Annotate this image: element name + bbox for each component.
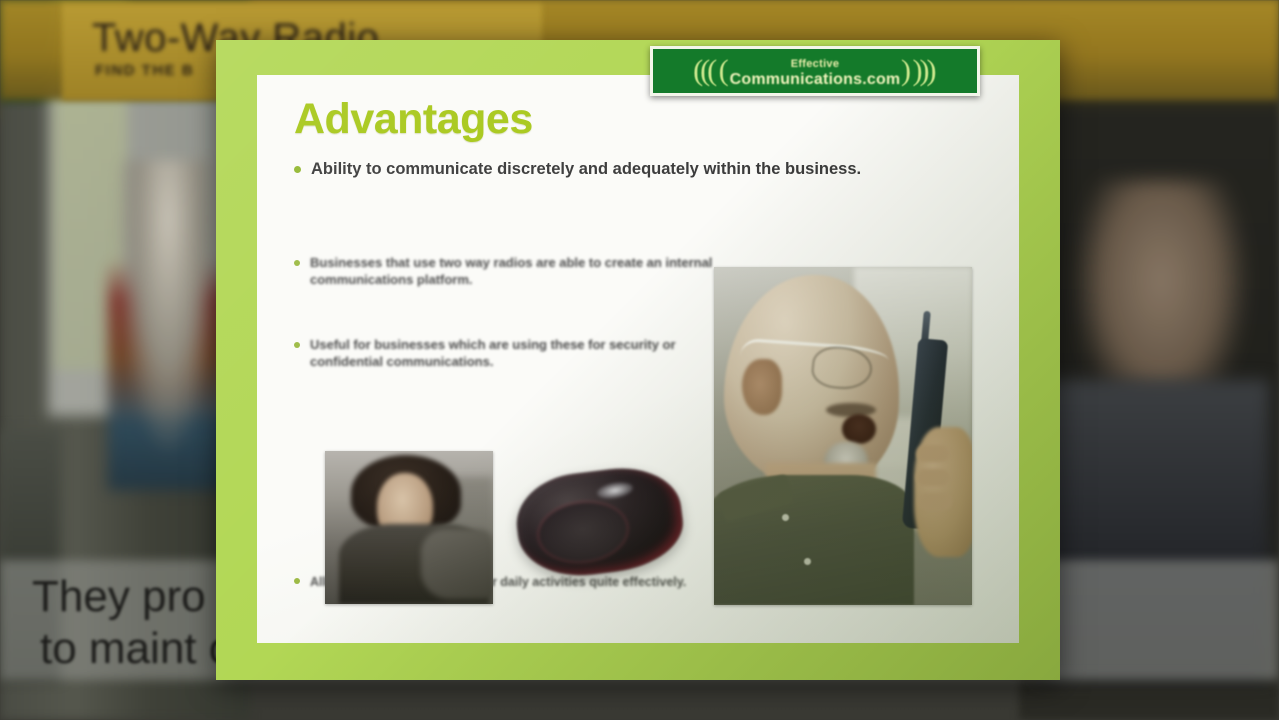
photo-finger <box>918 493 952 510</box>
background-banner-subtitle: FIND THE B <box>95 62 194 79</box>
brand-logo-badge: ((( ( Effective Communications.com ((( ( <box>650 46 980 96</box>
photo-arm <box>421 529 493 599</box>
photo-shirt-button <box>782 514 789 521</box>
bullet-dot-icon <box>294 260 300 266</box>
brand-name-line-1: Effective <box>791 58 840 70</box>
signal-wave-right-icon: ((( ( <box>904 56 936 86</box>
photo-shirt-button <box>804 558 811 565</box>
bullet-dot-icon <box>294 342 300 348</box>
list-item-label: Useful for businesses which are using th… <box>310 337 694 370</box>
brand-logo-text: Effective Communications.com <box>726 54 905 89</box>
list-item: Ability to communicate discretely and ad… <box>294 159 954 180</box>
photo-mouth <box>842 414 876 444</box>
list-item: Useful for businesses which are using th… <box>294 337 694 370</box>
slide-page: Advantages Ability to communicate discre… <box>257 75 1019 643</box>
list-item-label: Ability to communicate discretely and ad… <box>311 159 861 180</box>
bullet-dot-icon <box>294 578 300 584</box>
presentation-slide: Advantages Ability to communicate discre… <box>216 40 1060 680</box>
photo-finger <box>916 445 950 462</box>
bullet-dot-icon <box>294 166 301 173</box>
photo-black-radio-device <box>505 459 695 589</box>
list-item-label: Businesses that use two way radios are a… <box>310 255 714 288</box>
photo-man-with-two-way-radio <box>714 267 972 605</box>
photo-person-dark <box>325 451 493 604</box>
video-frame: Two-Way Radio FIND THE B They pro ce the… <box>0 0 1279 720</box>
brand-name-line-2: Communications.com <box>730 72 901 89</box>
background-left-person <box>108 160 228 490</box>
page-title: Advantages <box>294 95 533 144</box>
signal-wave-left-icon: ((( ( <box>693 56 725 86</box>
list-item: Businesses that use two way radios are a… <box>294 255 714 288</box>
photo-finger <box>916 469 950 486</box>
